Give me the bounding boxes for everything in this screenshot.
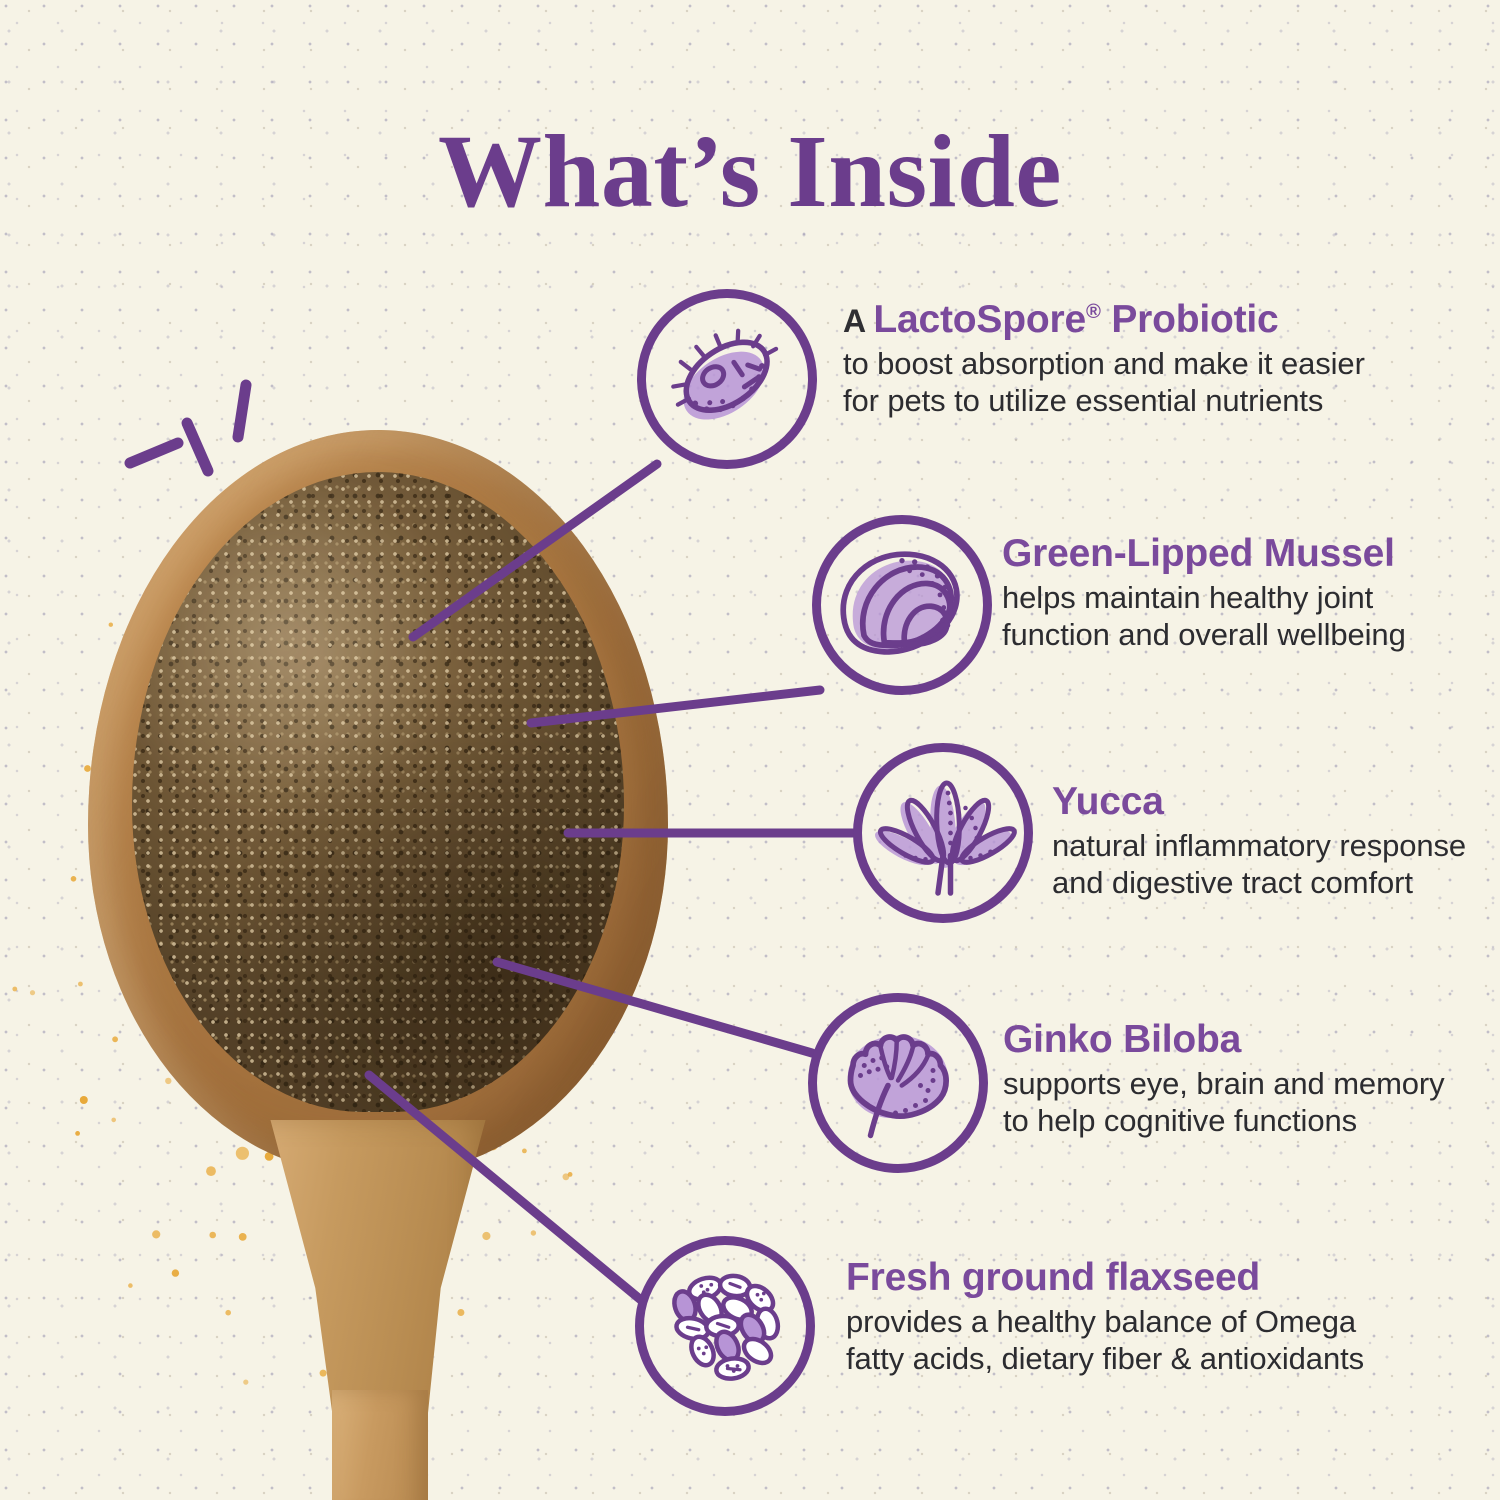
callout-body-line: to help cognitive functions <box>1003 1102 1445 1139</box>
callout-heading-tail-probiotic: Probiotic <box>1101 298 1279 341</box>
ground-supplement-powder <box>132 472 624 1112</box>
callout-body-line: for pets to utilize essential nutrients <box>843 382 1365 419</box>
icon-circle-ginkgo[interactable] <box>808 993 988 1173</box>
whats-inside-infographic: What’s Inside <box>0 0 1500 1500</box>
ginkgo-leaf-icon <box>823 1008 973 1158</box>
callout-body-line: to boost absorption and make it easier <box>843 345 1365 382</box>
callout-body-line: helps maintain healthy joint <box>1002 579 1406 616</box>
callout-body-line: function and overall wellbeing <box>1002 616 1406 653</box>
green-lipped-mussel-icon <box>826 529 978 681</box>
probiotic-bacteria-icon <box>652 304 802 454</box>
icon-circle-yucca[interactable] <box>853 743 1033 923</box>
trademark-symbol: ® <box>1086 301 1101 323</box>
flaxseed-cluster-icon <box>650 1251 800 1401</box>
powder-shading <box>132 472 624 1112</box>
callout-mussel: Green-Lipped Mussel helps maintain healt… <box>1002 532 1406 653</box>
callout-body-line: supports eye, brain and memory <box>1003 1065 1445 1102</box>
sparkle-dashes-icon <box>120 375 300 485</box>
callout-body-mussel: helps maintain healthy joint function an… <box>1002 579 1406 653</box>
page-title: What’s Inside <box>0 112 1500 231</box>
icon-circle-flaxseed[interactable] <box>635 1236 815 1416</box>
callout-body-yucca: natural inflammatory response and digest… <box>1052 827 1466 901</box>
callout-heading-yucca: Yucca <box>1052 780 1466 824</box>
callout-body-ginkgo: supports eye, brain and memory to help c… <box>1003 1065 1445 1139</box>
callout-heading-main-probiotic: LactoSpore <box>873 298 1086 341</box>
callout-body-line: fatty acids, dietary fiber & antioxidant… <box>846 1340 1364 1377</box>
callout-body-probiotic: to boost absorption and make it easier f… <box>843 345 1365 419</box>
callout-body-line: and digestive tract comfort <box>1052 864 1466 901</box>
callout-yucca: Yucca natural inflammatory response and … <box>1052 780 1466 901</box>
yucca-plant-icon <box>868 758 1018 908</box>
wooden-spoon-image <box>70 430 690 1500</box>
callout-heading-ginkgo: Ginko Biloba <box>1003 1018 1445 1062</box>
callout-body-line: provides a healthy balance of Omega <box>846 1303 1364 1340</box>
spoon-neck <box>266 1120 490 1420</box>
icon-circle-probiotic[interactable] <box>637 289 817 469</box>
callout-heading-probiotic: A LactoSpore® Probiotic <box>843 298 1365 342</box>
callout-flaxseed: Fresh ground flaxseed provides a healthy… <box>846 1256 1364 1377</box>
callout-heading-flaxseed: Fresh ground flaxseed <box>846 1256 1364 1300</box>
callout-ginkgo: Ginko Biloba supports eye, brain and mem… <box>1003 1018 1445 1139</box>
callout-body-line: natural inflammatory response <box>1052 827 1466 864</box>
icon-circle-mussel[interactable] <box>812 515 992 695</box>
callout-probiotic: A LactoSpore® Probiotic to boost absorpt… <box>843 298 1365 419</box>
callout-heading-mussel: Green-Lipped Mussel <box>1002 532 1406 576</box>
callout-lead-probiotic: A <box>843 303 873 339</box>
spoon-handle <box>332 1390 428 1500</box>
callout-body-flaxseed: provides a healthy balance of Omega fatt… <box>846 1303 1364 1377</box>
